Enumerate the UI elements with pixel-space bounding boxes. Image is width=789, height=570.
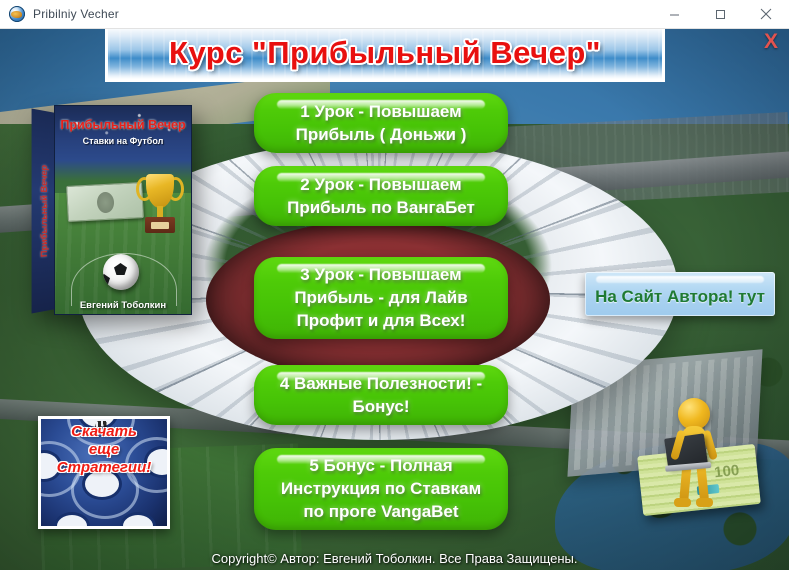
download-strategies-button[interactable]: Скачать еще Стратегии! bbox=[38, 416, 170, 529]
laptop-icon bbox=[664, 433, 708, 468]
product-box-subtitle: Ставки на Футбол bbox=[55, 136, 191, 146]
product-box-title: Прибыльный Вечер bbox=[55, 118, 191, 132]
window-title: Pribilniy Vecher bbox=[33, 7, 119, 21]
app-globe-icon bbox=[9, 6, 25, 22]
page-title: Курс "Прибыльный Вечер" bbox=[108, 27, 662, 79]
window-controls bbox=[651, 0, 789, 28]
lesson-1-button[interactable]: 1 Урок - Повышаем Прибыль ( Доньжи ) bbox=[254, 93, 508, 153]
maximize-icon[interactable] bbox=[697, 0, 743, 28]
author-site-button[interactable]: На Сайт Автора! тут bbox=[585, 272, 775, 316]
lesson-4-label: 4 Важные Полезности! - Бонус! bbox=[280, 372, 482, 418]
red-close-marker[interactable]: X bbox=[760, 30, 782, 52]
title-bar: Pribilniy Vecher bbox=[0, 0, 789, 29]
figure-icon bbox=[662, 398, 726, 510]
soccer-ball-graphic: Скачать еще Стратегии! bbox=[41, 419, 167, 526]
close-icon[interactable] bbox=[743, 0, 789, 28]
lesson-5-label: 5 Бонус - Полная Инструкция по Ставкам п… bbox=[281, 454, 481, 523]
soccer-ball-icon bbox=[103, 254, 139, 290]
header-banner-inner: Курс "Прибыльный Вечер" bbox=[108, 27, 662, 79]
product-box-image: Прибыльный Вечер Прибыльный Вечер Ставки… bbox=[30, 105, 190, 313]
lesson-1-label: 1 Урок - Повышаем Прибыль ( Доньжи ) bbox=[296, 100, 467, 146]
lesson-4-button[interactable]: 4 Важные Полезности! - Бонус! bbox=[254, 365, 508, 425]
money-man-graphic bbox=[628, 398, 768, 538]
copyright-footer: Copyright© Автор: Евгений Тоболкин. Все … bbox=[0, 551, 789, 566]
header-banner: Курс "Прибыльный Вечер" bbox=[105, 24, 665, 82]
ball-panel bbox=[123, 515, 153, 526]
lesson-3-label: 3 Урок - Повышаем Прибыль - для Лайв Про… bbox=[294, 263, 467, 332]
product-box-spine: Прибыльный Вечер bbox=[32, 109, 56, 314]
lesson-3-button[interactable]: 3 Урок - Повышаем Прибыль - для Лайв Про… bbox=[254, 257, 508, 339]
trophy-icon bbox=[139, 170, 181, 244]
lesson-5-button[interactable]: 5 Бонус - Полная Инструкция по Ставкам п… bbox=[254, 448, 508, 530]
product-box-front: Прибыльный Вечер Ставки на Футбол Евгени… bbox=[54, 105, 192, 315]
ball-panel bbox=[57, 515, 87, 526]
minimize-icon[interactable] bbox=[651, 0, 697, 28]
dollar-bill-icon bbox=[66, 182, 144, 222]
lesson-2-button[interactable]: 2 Урок - Повышаем Прибыль по ВангаБет bbox=[254, 166, 508, 226]
product-box-spine-label: Прибыльный Вечер bbox=[39, 165, 48, 258]
lesson-2-label: 2 Урок - Повышаем Прибыль по ВангаБет bbox=[287, 173, 475, 219]
application-window: Pribilniy Vecher bbox=[0, 0, 789, 570]
product-box-author: Евгений Тоболкин bbox=[55, 300, 191, 311]
download-strategies-label: Скачать еще Стратегии! bbox=[41, 423, 167, 477]
author-site-label: На Сайт Автора! тут bbox=[595, 281, 765, 307]
